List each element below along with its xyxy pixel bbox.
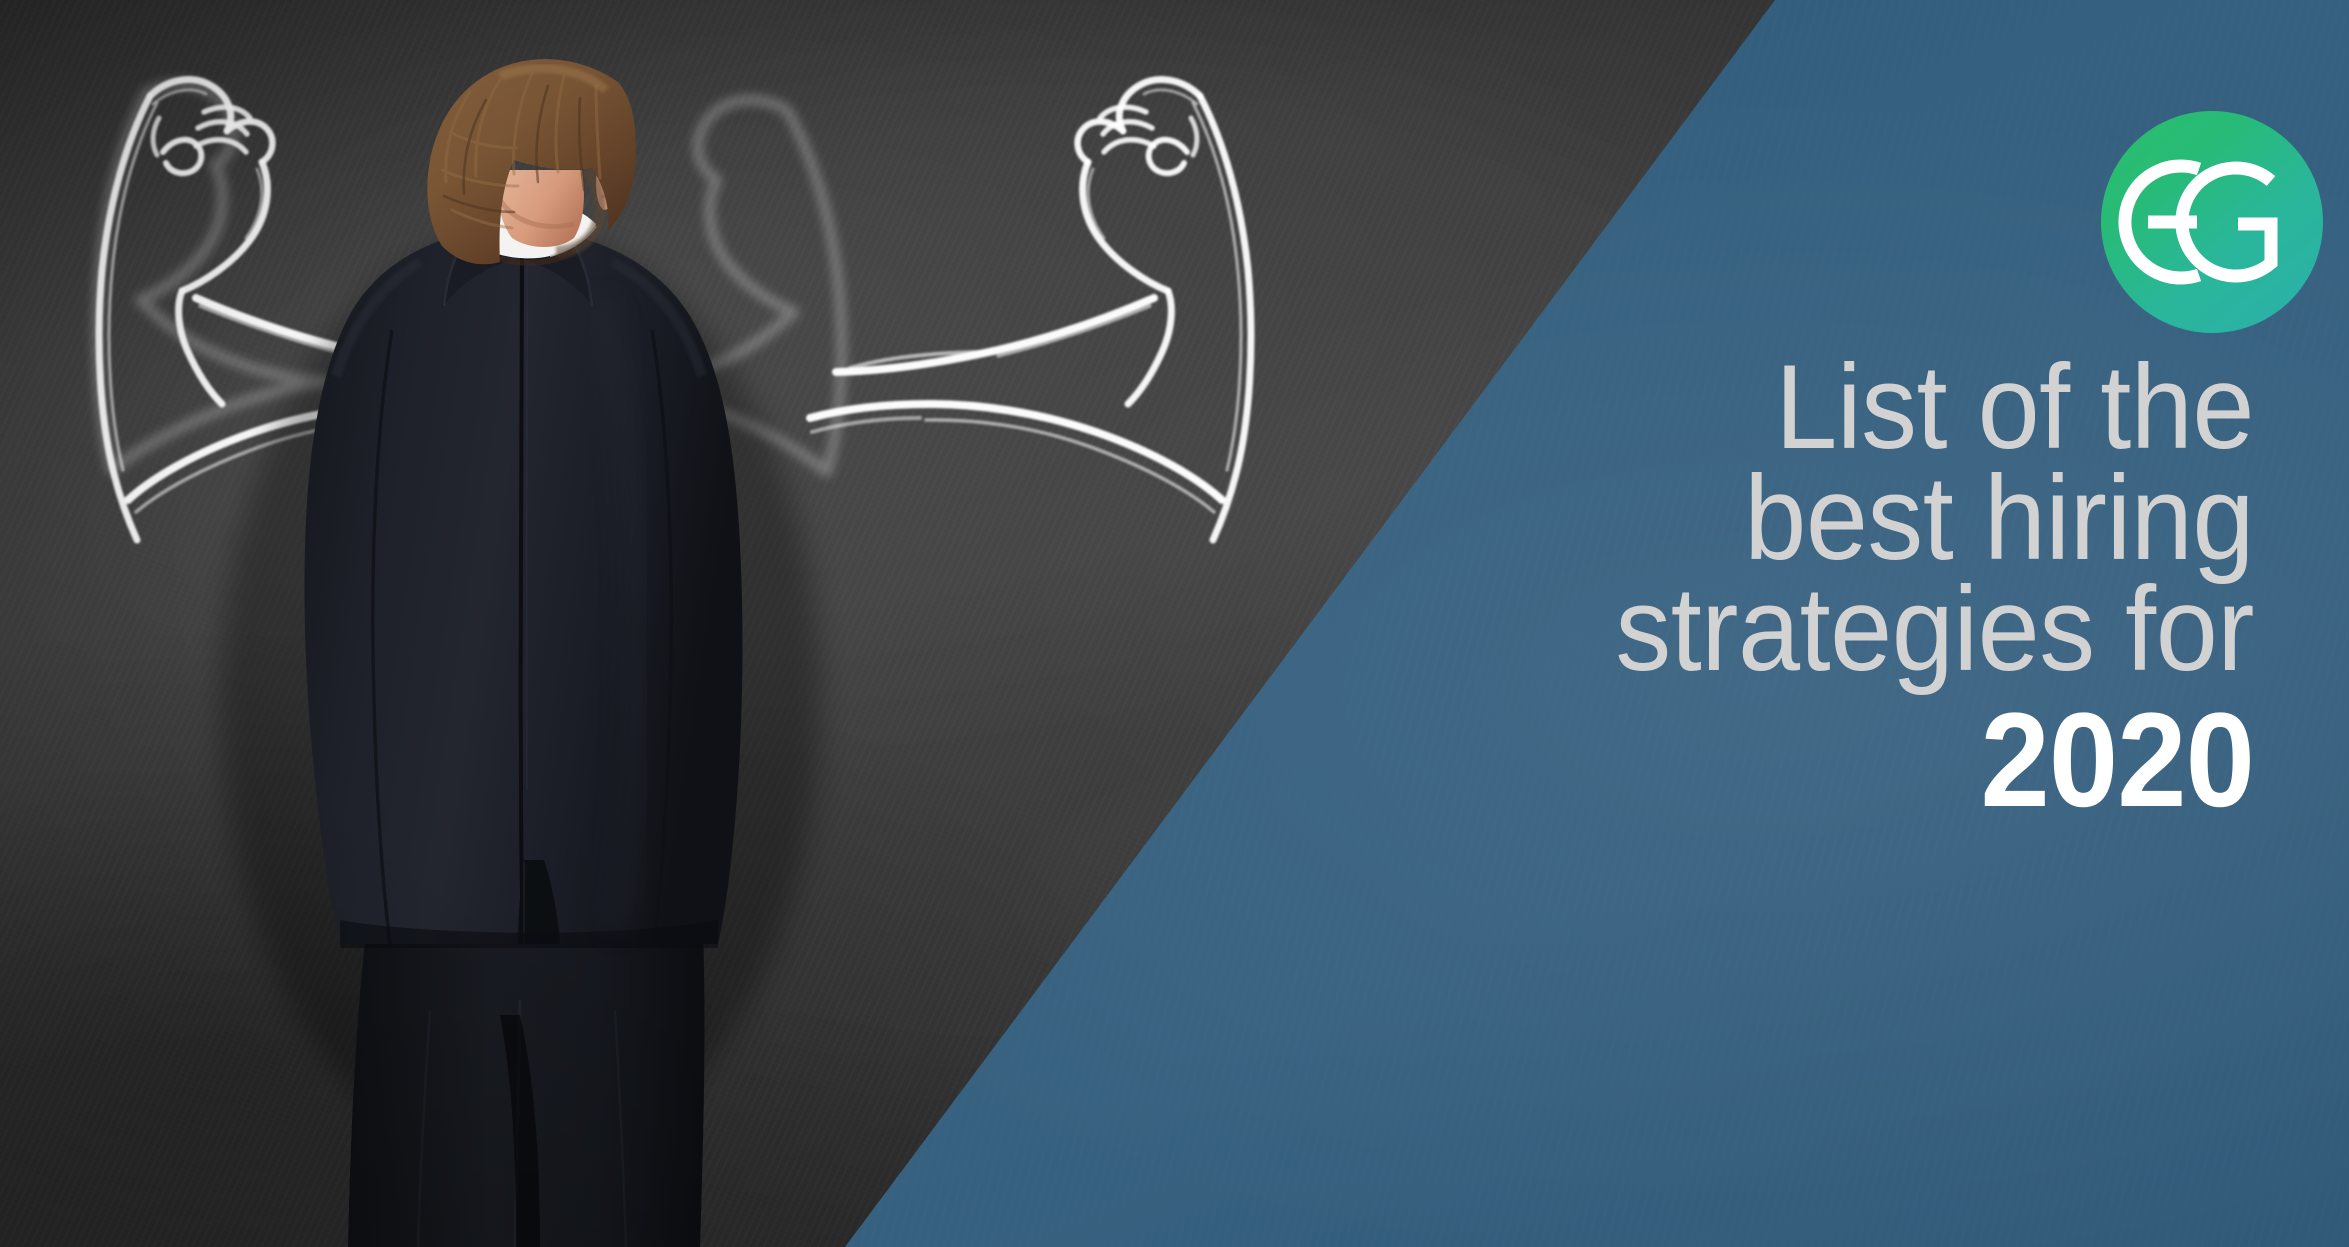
headline-line-3: strategies for: [1199, 574, 2254, 685]
eg-logo-mark: [2101, 111, 2323, 333]
banner-image: List of the best hiring strategies for 2…: [0, 0, 2349, 1247]
headline-line-2: best hiring: [1199, 463, 2254, 574]
headline-line-1: List of the: [1199, 352, 2254, 463]
headline-year: 2020: [1199, 695, 2254, 827]
eg-logo[interactable]: [2101, 111, 2323, 333]
headline-block: List of the best hiring strategies for 2…: [1120, 352, 2254, 827]
